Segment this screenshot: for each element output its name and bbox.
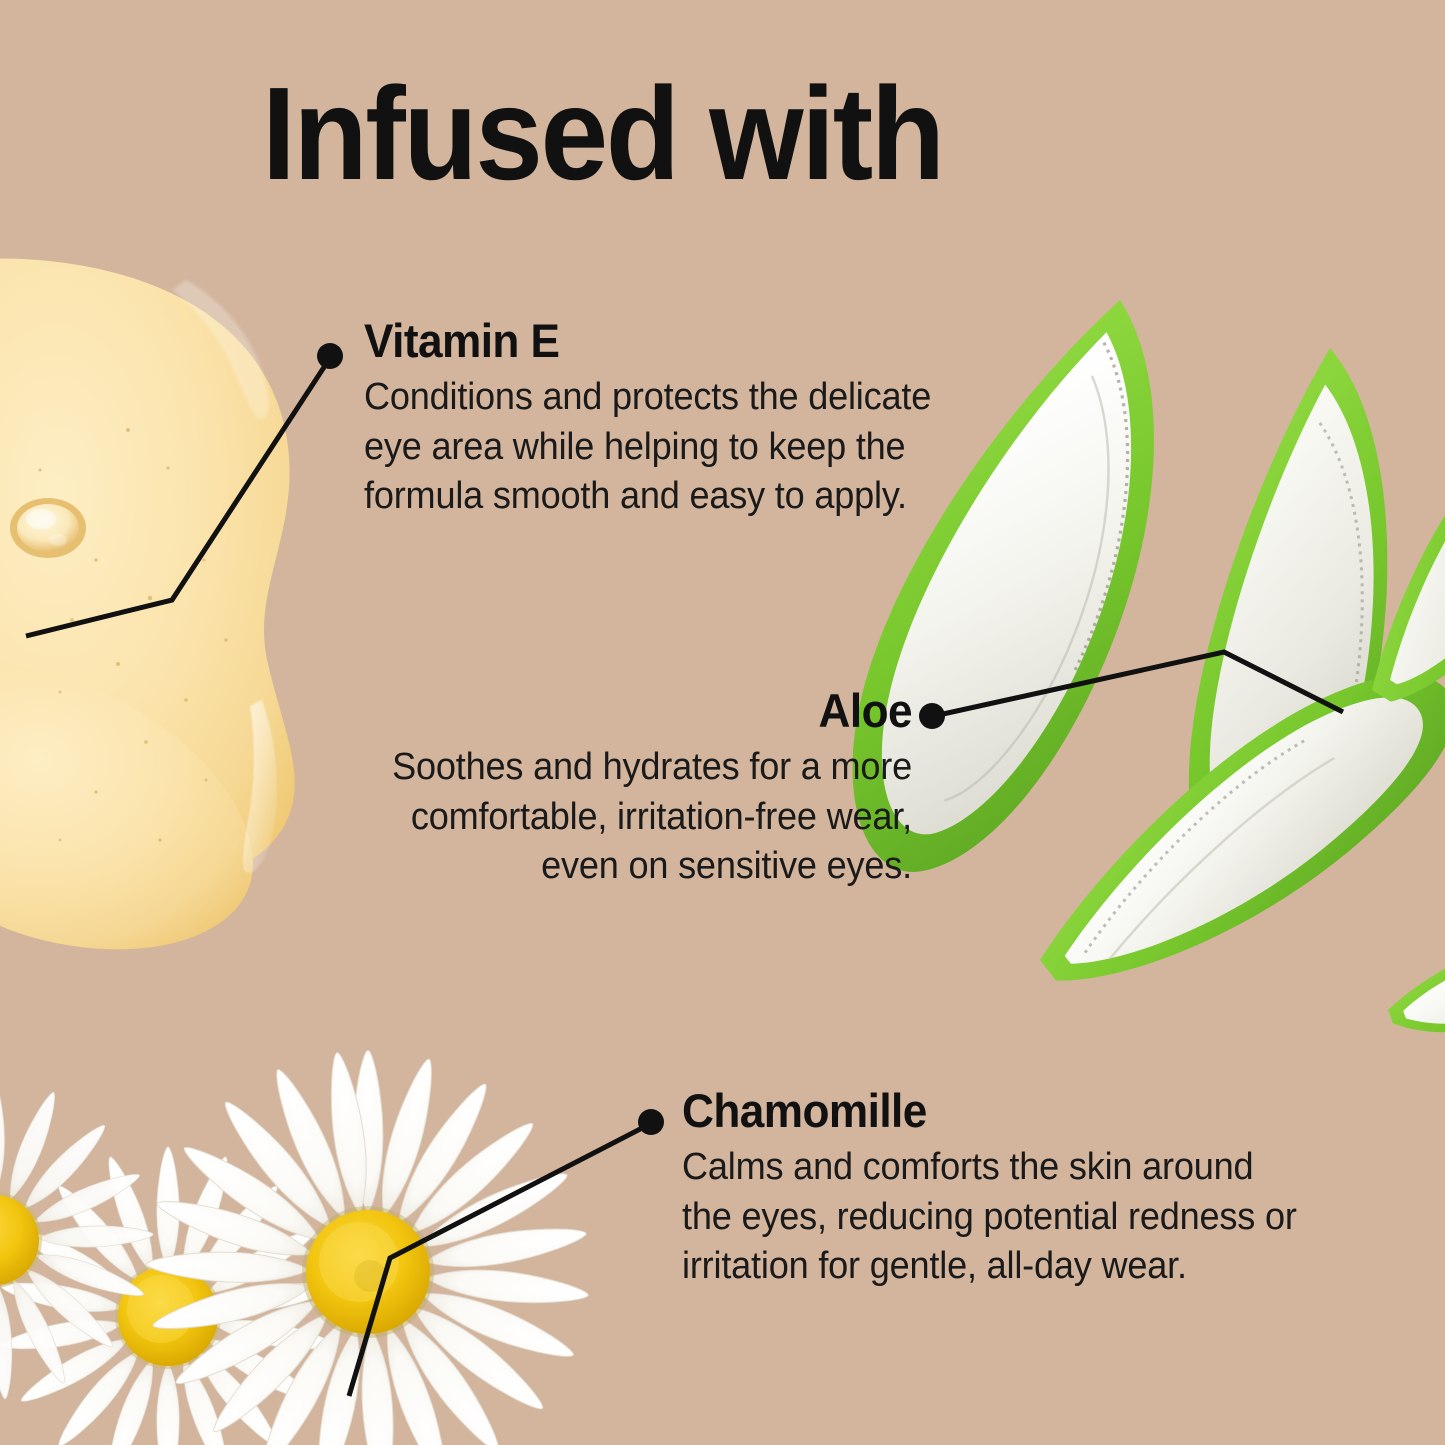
ingredient-name-vitamin-e: Vitamin E [364, 316, 984, 365]
ingredient-name-chamomille: Chamomille [682, 1086, 1302, 1135]
ingredient-block-vitamin-e: Vitamin E Conditions and protects the de… [364, 316, 1024, 522]
ingredient-description-vitamin-e: Conditions and protects the delicate eye… [364, 373, 991, 521]
ingredient-block-aloe: Aloe Soothes and hydrates for a more com… [300, 686, 912, 892]
ingredient-block-chamomille: Chamomille Calms and comforts the skin a… [682, 1086, 1342, 1292]
text-layer: Infused with Vitamin E Conditions and pr… [0, 0, 1445, 1445]
infographic-canvas: Infused with Vitamin E Conditions and pr… [0, 0, 1445, 1445]
ingredient-description-chamomille: Calms and comforts the skin around the e… [682, 1143, 1309, 1291]
ingredient-description-aloe: Soothes and hydrates for a more comforta… [331, 743, 912, 891]
page-title: Infused with [262, 68, 943, 200]
ingredient-name-aloe: Aloe [337, 686, 912, 735]
